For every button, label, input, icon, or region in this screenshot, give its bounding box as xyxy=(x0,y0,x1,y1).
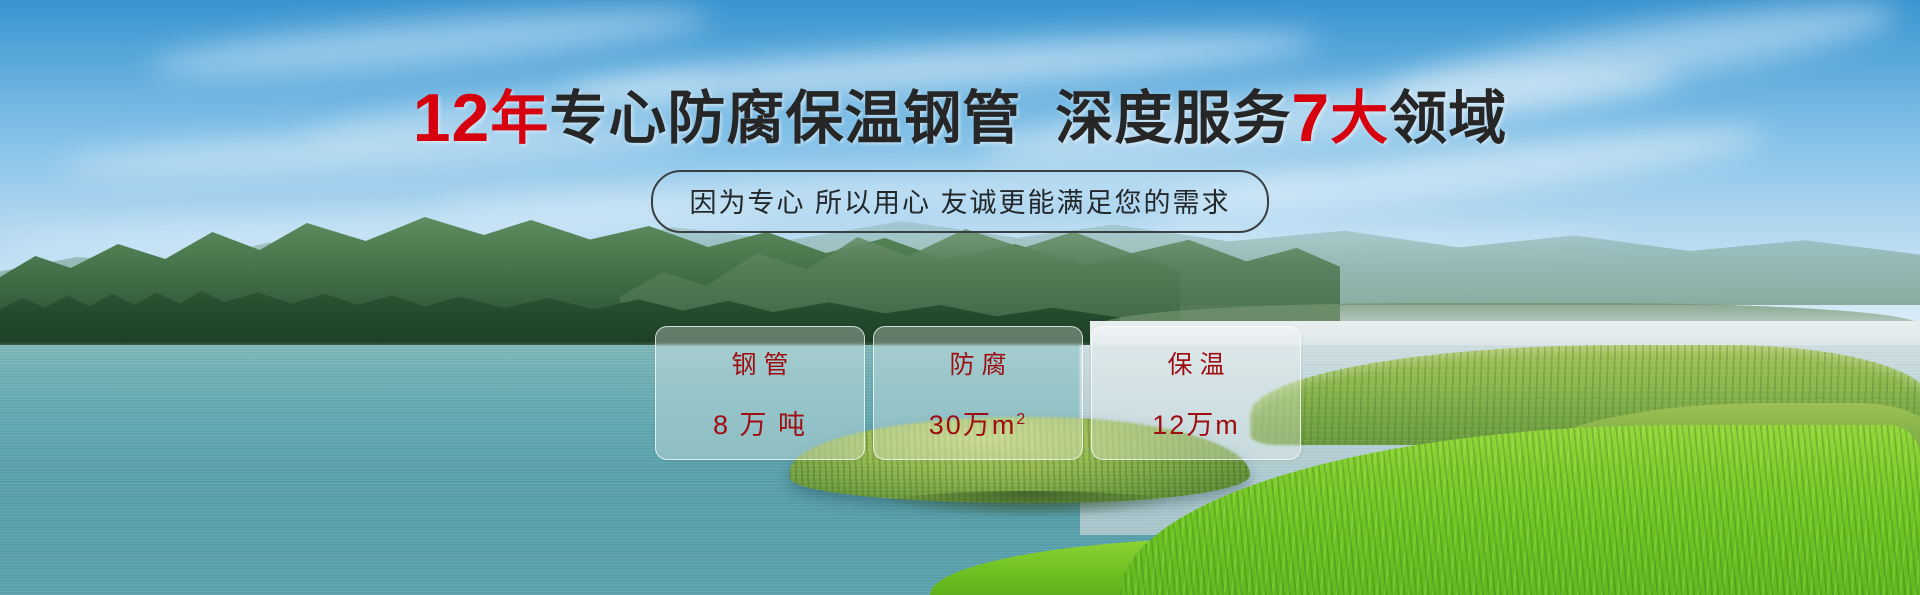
stat-card-value: 30万m2 xyxy=(929,403,1027,442)
stat-card-title: 保温 xyxy=(1160,345,1231,381)
stat-card-value-text: 30万m xyxy=(929,410,1017,440)
headline-years-unit: 年 xyxy=(490,86,549,151)
headline-phrase-three: 领域 xyxy=(1389,86,1507,151)
headline-years-number: 12 xyxy=(413,80,491,156)
banner-subtitle-container: 因为专心 所以用心 友诚更能满足您的需求 xyxy=(0,170,1920,233)
headline-fields-number: 7 xyxy=(1291,80,1330,156)
stat-card-title: 钢管 xyxy=(724,345,795,381)
stat-card-value: 8 万 吨 xyxy=(713,403,807,442)
headline-fields-unit: 大 xyxy=(1330,86,1389,151)
hero-banner: 12年专心防腐保温钢管深度服务7大领域 因为专心 所以用心 友诚更能满足您的需求… xyxy=(0,0,1920,595)
headline-phrase-two: 深度服务 xyxy=(1055,86,1291,151)
stat-card-value: 12万m xyxy=(1152,403,1240,442)
stat-card-steel-pipe[interactable]: 钢管 8 万 吨 xyxy=(655,326,865,460)
stat-card-title: 防腐 xyxy=(942,345,1013,381)
banner-subtitle-pill: 因为专心 所以用心 友诚更能满足您的需求 xyxy=(651,170,1268,233)
stat-card-anticorrosion[interactable]: 防腐 30万m2 xyxy=(873,326,1083,460)
stat-card-insulation[interactable]: 保温 12万m xyxy=(1091,326,1301,460)
stat-card-value-superscript: 2 xyxy=(1016,411,1027,428)
stat-card-value-text: 8 万 吨 xyxy=(713,410,807,440)
headline-phrase-one: 专心防腐保温钢管 xyxy=(549,86,1021,151)
banner-headline: 12年专心防腐保温钢管深度服务7大领域 xyxy=(0,84,1920,152)
stat-card-group: 钢管 8 万 吨 防腐 30万m2 保温 12万m xyxy=(655,326,1301,460)
stat-card-value-text: 12万m xyxy=(1152,410,1240,440)
